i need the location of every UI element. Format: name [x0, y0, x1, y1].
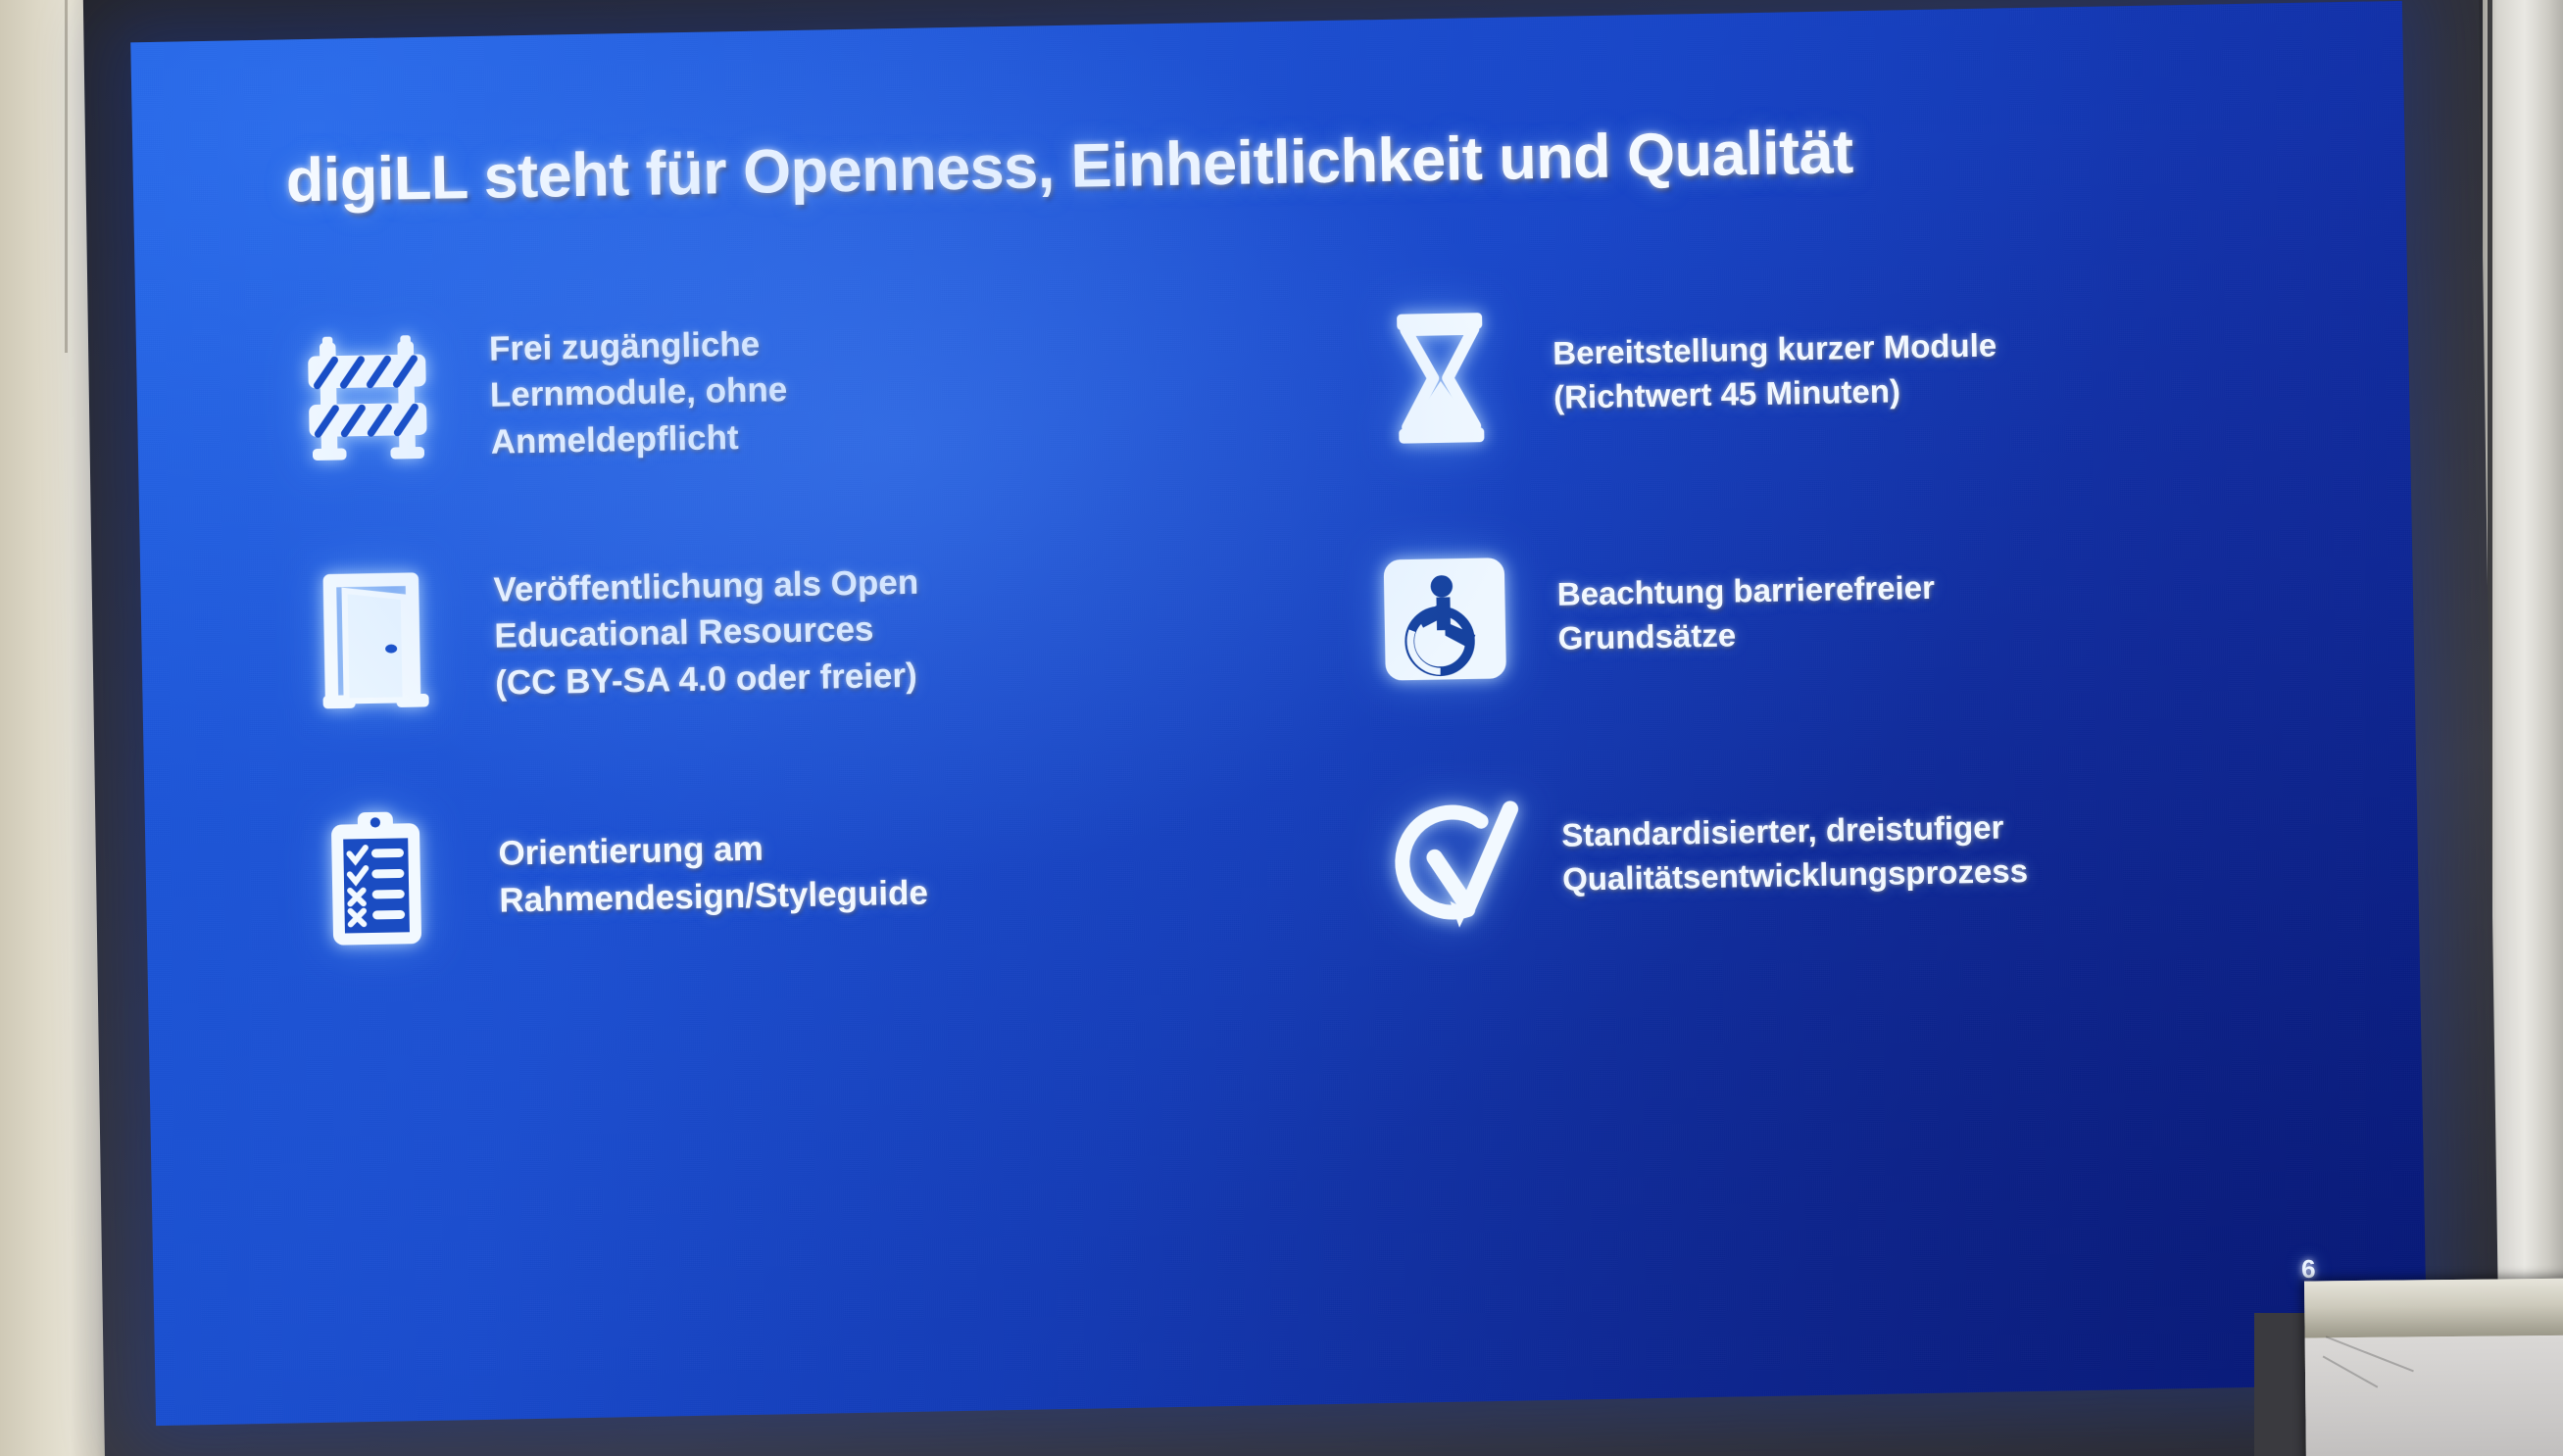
- flipchart-rail: [2304, 1278, 2563, 1337]
- projected-slide: digiLL steht für Openness, Einheitlichke…: [130, 1, 2427, 1426]
- feature-item-quality-process: Standardisierter, dreistufiger Qualitäts…: [1335, 724, 2312, 983]
- feature-text: Standardisierter, dreistufiger Qualitäts…: [1561, 801, 2311, 902]
- feature-text: Frei zugängliche Lernmodule, ohne Anmeld…: [489, 313, 1219, 465]
- clipboard-checklist-icon: [252, 785, 500, 976]
- quality-cycle-check-icon: [1335, 765, 1563, 955]
- feature-item-open-access: Frei zugängliche Lernmodule, ohne Anmeld…: [243, 262, 1220, 520]
- photo-of-projection-screen: digiLL steht für Openness, Einheitlichke…: [0, 0, 2563, 1456]
- open-door-icon: [248, 544, 496, 735]
- flipchart-board: [2304, 1278, 2563, 1456]
- page-title: digiLL steht für Openness, Einheitlichke…: [285, 109, 2297, 217]
- feature-text: Bereitstellung kurzer Module (Richtwert …: [1553, 318, 2302, 420]
- road-barrier-icon: [243, 303, 491, 494]
- feature-item-oer-publication: Veröffentlichung als Open Educational Re…: [247, 503, 1224, 761]
- flipchart-paper: [2305, 1335, 2563, 1456]
- feature-item-accessibility: Beachtung barrierefreier Grundsätze: [1330, 483, 2307, 742]
- wall-seam: [65, 0, 68, 353]
- wheelchair-accessibility-icon: [1331, 524, 1559, 714]
- feature-text: Orientierung am Rahmendesign/Styleguide: [498, 817, 1228, 924]
- feature-text: Veröffentlichung als Open Educational Re…: [493, 554, 1223, 706]
- hourglass-icon: [1326, 283, 1554, 473]
- page-number: 6: [2301, 1254, 2316, 1285]
- feature-grid: Frei zugängliche Lernmodule, ohne Anmeld…: [243, 242, 2312, 1002]
- feature-item-styleguide: Orientierung am Rahmendesign/Styleguide: [252, 744, 1229, 1002]
- feature-text: Beachtung barrierefreier Grundsätze: [1556, 559, 2306, 661]
- feature-item-short-modules: Bereitstellung kurzer Module (Richtwert …: [1326, 242, 2303, 501]
